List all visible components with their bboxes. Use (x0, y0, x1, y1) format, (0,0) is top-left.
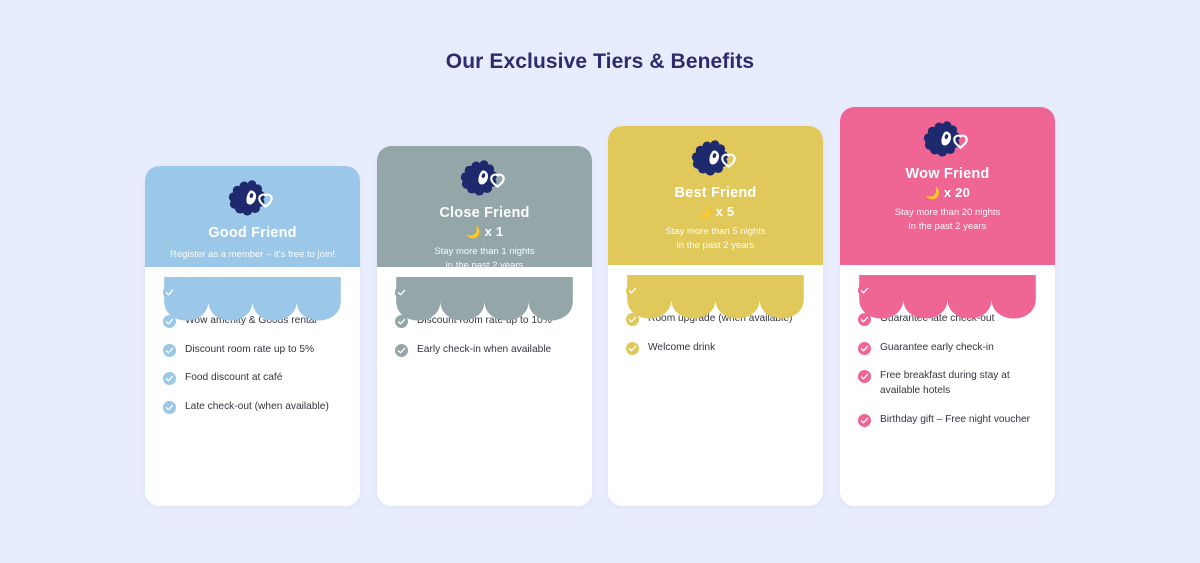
tier-description-line: Stay more than 20 nights (840, 206, 1055, 220)
cloud-edge (377, 277, 592, 323)
benefit-text: Food discount at café (185, 371, 282, 386)
tier-description: Stay more than 1 nightsin the past 2 yea… (377, 245, 592, 273)
benefit-item: Birthday gift – Free night voucher (858, 413, 1039, 428)
tier-description: Stay more than 20 nightsin the past 2 ye… (840, 206, 1055, 234)
benefit-item: Late check-out (when available) (163, 400, 344, 415)
check-badge (395, 344, 408, 357)
benefit-item: Free breakfast during stay at available … (858, 369, 1039, 399)
moon-icon: 🌙 (466, 225, 481, 239)
check-badge (626, 284, 639, 297)
check-circle-icon (395, 344, 408, 357)
sheep-heart-icon (227, 180, 279, 217)
check-badge (395, 286, 408, 299)
tier-card-best-friend[interactable]: Best Friend 🌙 x 5 Stay more than 5 night… (608, 126, 823, 506)
check-circle-icon (163, 401, 176, 414)
benefit-item: Food discount at café (163, 371, 344, 386)
check-circle-icon (626, 284, 639, 297)
sheep-heart-icon (459, 160, 511, 197)
tier-description: Register as a member – it's free to join… (145, 248, 360, 262)
tier-nights: 🌙 x 1 (377, 224, 592, 239)
check-badge (163, 344, 176, 357)
tier-description: Stay more than 5 nightsin the past 2 yea… (608, 225, 823, 253)
tier-description-line: Stay more than 1 nights (377, 245, 592, 259)
check-badge (858, 414, 871, 427)
tier-card-good-friend[interactable]: Good Friend Register as a member – it's … (145, 166, 360, 506)
cloud-edge (145, 277, 360, 323)
check-circle-icon (395, 286, 408, 299)
check-badge (163, 401, 176, 414)
cloud-edge (608, 275, 823, 321)
benefit-text: Guarantee early check-in (880, 341, 994, 356)
tier-header-best-friend: Best Friend 🌙 x 5 Stay more than 5 night… (608, 126, 823, 265)
tier-name: Wow Friend (840, 166, 1055, 182)
check-circle-icon (163, 372, 176, 385)
check-circle-icon (163, 344, 176, 357)
check-badge (163, 315, 176, 328)
check-badge (163, 286, 176, 299)
check-badge (626, 313, 639, 326)
check-badge (858, 342, 871, 355)
moon-icon: 🌙 (925, 186, 940, 200)
check-circle-icon (626, 313, 639, 326)
check-circle-icon (626, 342, 639, 355)
tier-nights: 🌙 x 20 (840, 185, 1055, 200)
benefit-text: Discount room rate up to 5% (185, 343, 314, 358)
check-circle-icon (163, 315, 176, 328)
check-circle-icon (858, 284, 871, 297)
benefit-text: Late check-out (when available) (185, 400, 329, 415)
benefit-item: Discount room rate up to 5% (163, 343, 344, 358)
tier-header-good-friend: Good Friend Register as a member – it's … (145, 166, 360, 267)
tier-card-close-friend[interactable]: Close Friend 🌙 x 1 Stay more than 1 nigh… (377, 146, 592, 506)
tier-description-line: in the past 2 years (840, 220, 1055, 234)
check-badge (858, 370, 871, 383)
tier-header-wow-friend: Wow Friend 🌙 x 20 Stay more than 20 nigh… (840, 107, 1055, 265)
moon-icon: 🌙 (697, 205, 712, 219)
check-circle-icon (858, 342, 871, 355)
tier-description-line: Register as a member – it's free to join… (145, 248, 360, 262)
benefit-text: Free breakfast during stay at available … (880, 369, 1039, 399)
tier-description-line: in the past 2 years (608, 239, 823, 253)
check-badge (395, 315, 408, 328)
benefit-text: Welcome drink (648, 341, 715, 356)
check-circle-icon (395, 315, 408, 328)
check-badge (626, 342, 639, 355)
check-badge (858, 313, 871, 326)
benefit-text: Birthday gift – Free night voucher (880, 413, 1030, 428)
cloud-edge (840, 275, 1055, 321)
check-circle-icon (858, 414, 871, 427)
tier-description-line: in the past 2 years (377, 259, 592, 273)
tier-name: Close Friend (377, 205, 592, 221)
benefit-item: Early check-in when available (395, 343, 576, 358)
check-badge (858, 284, 871, 297)
tier-card-wow-friend[interactable]: Wow Friend 🌙 x 20 Stay more than 20 nigh… (840, 107, 1055, 506)
sheep-heart-icon (690, 140, 742, 177)
benefit-text: Early check-in when available (417, 343, 551, 358)
check-circle-icon (858, 370, 871, 383)
check-circle-icon (858, 313, 871, 326)
tier-cards-container: Good Friend Register as a member – it's … (0, 0, 1200, 563)
check-badge (163, 372, 176, 385)
check-circle-icon (163, 286, 176, 299)
tier-name: Good Friend (145, 225, 360, 241)
tier-name: Best Friend (608, 185, 823, 201)
benefit-item: Welcome drink (626, 341, 807, 356)
tier-description-line: Stay more than 5 nights (608, 225, 823, 239)
tier-nights: 🌙 x 5 (608, 204, 823, 219)
tier-header-close-friend: Close Friend 🌙 x 1 Stay more than 1 nigh… (377, 146, 592, 267)
sheep-heart-icon (922, 121, 974, 158)
benefit-item: Guarantee early check-in (858, 341, 1039, 356)
